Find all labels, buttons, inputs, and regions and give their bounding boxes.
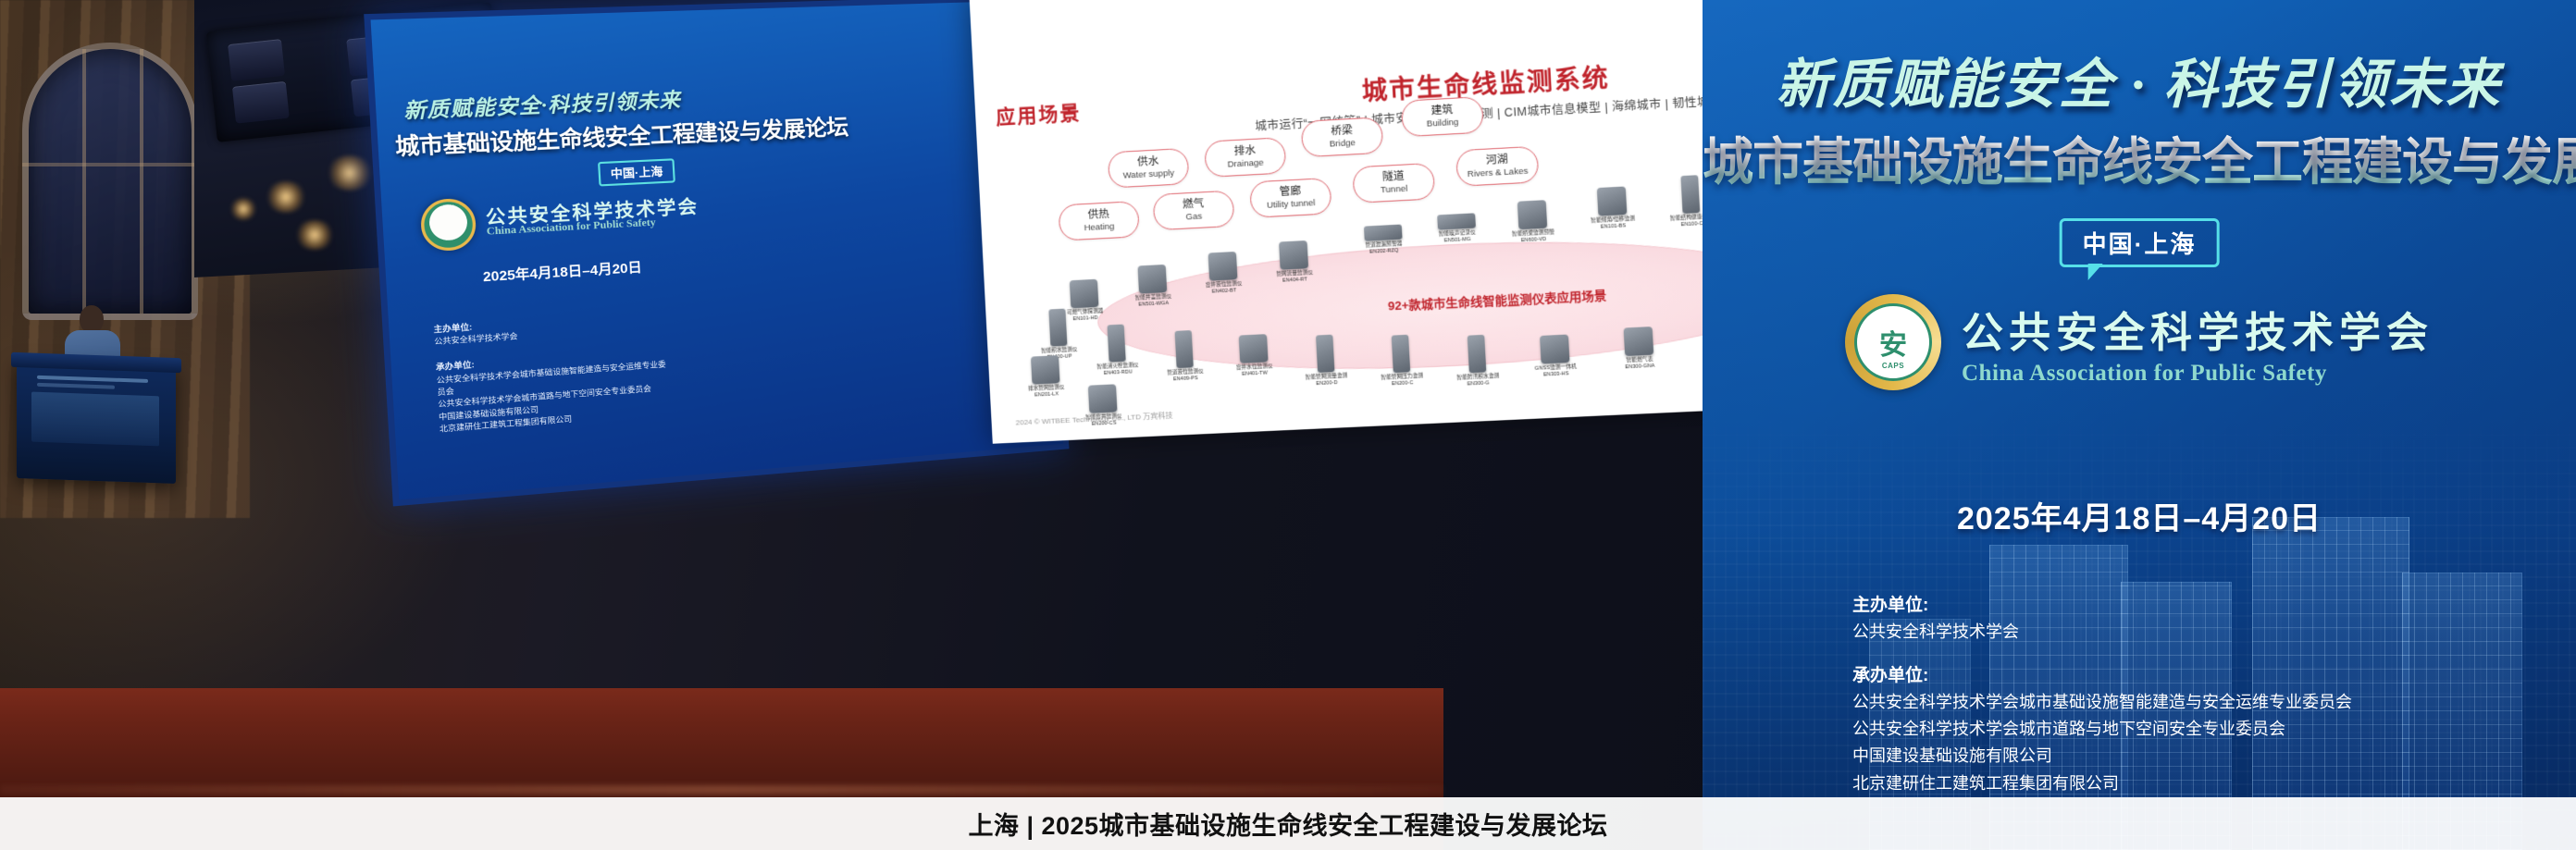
device-icon	[1088, 384, 1118, 413]
device-label: 智能管网压力监测EN200-C	[1373, 373, 1432, 388]
banner-organizers: 主办单位: 公共安全科学技术学会 承办单位: 公共安全科学技术学会城市基础设施智…	[1852, 592, 2556, 797]
device-label: 排水管网监测仪EN201-LX	[1018, 384, 1076, 400]
banner-forum-title: 城市基础设施生命线安全工程建设与发展论坛	[1703, 120, 2576, 194]
device-item: 智能井盖监测仪EN501-WGA	[1122, 264, 1183, 309]
banner-association-row: 安 CAPS 公共安全科学技术学会 China Association for …	[1703, 294, 2576, 390]
device-icon	[1175, 330, 1194, 368]
device-item: 智能噪声记录仪EN501-MG	[1427, 213, 1487, 246]
device-item: 排水管网监测仪EN201-LX	[1016, 354, 1075, 400]
cohost-item: 中国建设基础设施有限公司	[1852, 743, 2556, 770]
led-location-badge: 中国·上海	[598, 158, 675, 186]
stage-light	[326, 155, 374, 191]
scenario-pill: 供水Water supply	[1108, 148, 1190, 189]
device-icon	[1680, 175, 1700, 214]
association-text: 公共安全科学技术学会 China Association for Public …	[1962, 299, 2434, 387]
device-item: 智能消火栓监测仪EN403-RDU	[1086, 323, 1146, 377]
device-icon	[1597, 186, 1628, 216]
arched-window	[22, 43, 198, 320]
cohost-item: 公共安全科学技术学会城市基础设施智能建造与安全运维专业委员会	[1852, 689, 2556, 716]
stage-light	[229, 198, 257, 220]
device-label: 智能管网流量监测EN200-D	[1297, 373, 1356, 388]
device-icon	[1624, 326, 1654, 356]
device-item: 智能管网流量监测EN200-D	[1295, 334, 1356, 388]
caption-bar: 上海 | 2025城市基础设施生命线安全工程建设与发展论坛	[0, 797, 2576, 850]
led-host-label: 主办单位:	[433, 322, 472, 334]
device-item: GNSS监测一体机EN303-HS	[1525, 334, 1586, 380]
device-item: 智能管网压力监测EN200-C	[1370, 334, 1431, 389]
device-item: 管网流量监测仪EN404-RT	[1264, 240, 1324, 286]
device-icon	[1048, 309, 1067, 347]
host-label: 主办单位:	[1852, 592, 2556, 619]
seal-glyph: 安	[1845, 294, 1941, 390]
conference-photo: 新质赋能安全·科技引领未来 城市基础设施生命线安全工程建设与发展论坛 中国·上海…	[0, 0, 2576, 850]
device-item: 管道泄漏预警器EN202-RZQ	[1354, 224, 1414, 257]
device-label: 智能倾角/位移监测EN101-BS	[1583, 216, 1643, 231]
device-icon	[1208, 252, 1238, 281]
led-association-seal-icon	[419, 198, 477, 253]
seal-caps-text: CAPS	[1845, 362, 1941, 370]
device-label: GNSS监测一体机EN303-HS	[1526, 363, 1586, 379]
device-label: 窨井水位监测仪EN401-TW	[1225, 363, 1284, 379]
device-icon	[1468, 335, 1487, 373]
led-cohost-label: 承办单位:	[436, 360, 475, 373]
banner-calligraphy-slogan: 新质赋能安全 · 科技引领未来	[1703, 41, 2576, 118]
stage-light	[294, 220, 335, 250]
cohost-label: 承办单位:	[1852, 662, 2556, 689]
led-cohost-item: 公共安全科学技术学会城市道路与地下空间安全专业委员会	[438, 385, 651, 410]
device-icon	[1540, 335, 1570, 364]
device-label: 智能防汛积水监测EN300-G	[1448, 373, 1507, 388]
scenario-pill: 排水Drainage	[1204, 137, 1286, 178]
caption-text: 上海 | 2025城市基础设施生命线安全工程建设与发展论坛	[968, 806, 1607, 842]
speaker-box	[228, 39, 285, 81]
device-item: 管道液位监测仪EN409-PS	[1154, 329, 1215, 384]
presenter-head	[80, 305, 104, 333]
device-item: 智能倾角/位移监测EN101-BS	[1581, 186, 1643, 232]
lectern-text-line	[37, 376, 148, 383]
device-icon	[1517, 200, 1547, 229]
scenario-pill: 管廊Utility tunnel	[1249, 178, 1331, 218]
device-icon	[1239, 334, 1269, 363]
device-label: 智能燃气表EN300-GNA	[1610, 356, 1670, 372]
cohost-item: 公共安全科学技术学会城市道路与地下空间安全专业委员会	[1852, 716, 2556, 743]
device-icon	[1070, 279, 1099, 309]
lectern-text-line	[37, 383, 115, 389]
device-icon	[1137, 265, 1167, 294]
led-host-item: 公共安全科学技术学会	[434, 332, 518, 347]
scenario-pill: 河湖Rivers & Lakes	[1455, 146, 1539, 187]
conference-banner: 新质赋能安全 · 科技引领未来 城市基础设施生命线安全工程建设与发展论坛 中国·…	[1703, 0, 2576, 850]
association-seal-icon: 安 CAPS	[1845, 294, 1941, 390]
device-icon	[1437, 213, 1476, 229]
stage-light	[265, 181, 307, 213]
host-item: 公共安全科学技术学会	[1852, 619, 2556, 646]
device-label: 智能消火栓监测仪EN403-RDU	[1089, 363, 1147, 378]
scenario-pill: 燃气Gas	[1153, 191, 1235, 230]
device-icon	[1392, 335, 1411, 373]
device-item: 智能积水监测仪EN400-UP	[1028, 307, 1088, 362]
stage-floor-reflection	[0, 785, 1443, 795]
lectern	[17, 360, 176, 484]
led-screen-left: 新质赋能安全·科技引领未来 城市基础设施生命线安全工程建设与发展论坛 中国·上海…	[364, 0, 1069, 506]
device-icon	[1108, 325, 1126, 363]
organizer-spacer	[1852, 647, 2556, 662]
device-label: 管道液位监测仪EN409-PS	[1157, 368, 1215, 384]
device-icon	[1316, 335, 1334, 373]
device-icon	[1279, 240, 1308, 270]
device-item: 窨井水位监测仪EN401-TW	[1223, 333, 1283, 378]
device-item: 智能防汛积水监测EN300-G	[1446, 334, 1508, 389]
scenario-pill: 桥梁Bridge	[1301, 117, 1384, 157]
window-mullion	[22, 163, 198, 166]
device-item: 智能燃气表EN300-GNA	[1608, 326, 1670, 372]
led-organizers: 主办单位: 公共安全科学技术学会 承办单位: 公共安全科学技术学会城市基础设施智…	[433, 308, 675, 436]
banner-association-name-en: China Association for Public Safety	[1962, 361, 2434, 387]
device-item: 窨井液位监测仪EN402-BT	[1193, 251, 1253, 296]
device-icon	[1031, 355, 1060, 384]
led-screen-content: 新质赋能安全·科技引领未来 城市基础设施生命线安全工程建设与发展论坛 中国·上海…	[371, 0, 1064, 499]
banner-location-badge: 中国·上海	[2060, 218, 2220, 267]
device-item: 智能桥梁监测预警EN600-VD	[1502, 199, 1563, 245]
scenario-pill: 建筑Building	[1401, 96, 1484, 137]
banner-association-name-cn: 公共安全科学技术学会	[1962, 299, 2434, 359]
lectern-logo-panel	[31, 392, 159, 447]
device-icon	[1364, 225, 1403, 241]
cohost-item: 北京建研住工建筑工程集团有限公司	[1852, 770, 2556, 797]
banner-event-date: 2025年4月18日–4月20日	[1703, 493, 2576, 538]
speaker-box	[232, 81, 290, 124]
scenario-pill: 供热Heating	[1058, 201, 1139, 240]
scenario-pill: 隧道Tunnel	[1352, 163, 1435, 203]
led-event-date: 2025年4月18日–4月20日	[482, 257, 642, 286]
